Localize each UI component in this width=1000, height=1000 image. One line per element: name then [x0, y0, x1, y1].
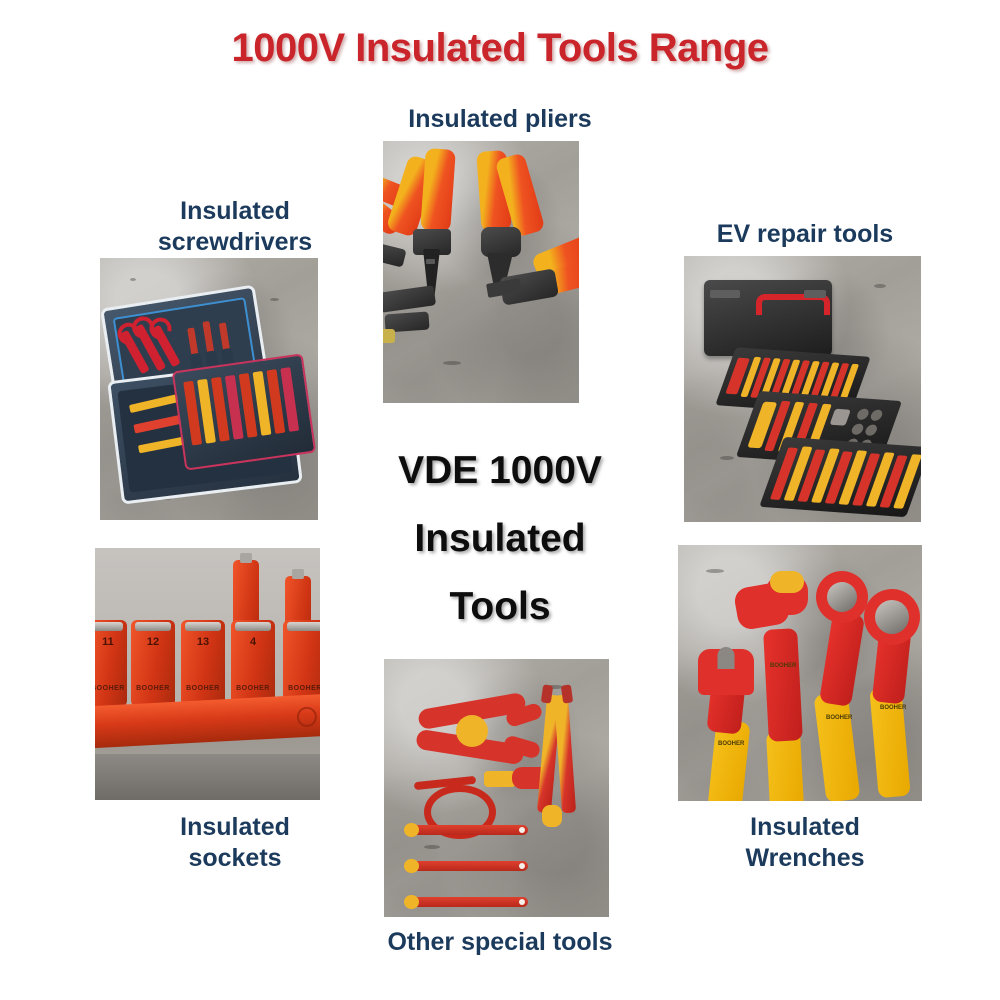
- socket-brand-label: BOOHER: [283, 685, 320, 692]
- photo-insulated-screwdrivers: [100, 258, 318, 520]
- ev-tool-case: [704, 280, 832, 356]
- caption-insulated-pliers: Insulated pliers: [360, 104, 640, 135]
- center-wordmark: VDE 1000V Insulated Tools: [350, 437, 650, 641]
- caption-ev-repair-tools: EV repair tools: [665, 219, 945, 250]
- socket-item: 11 BOOHER: [95, 620, 127, 706]
- socket-item: 13 BOOHER: [181, 620, 225, 706]
- infographic-canvas: 1000V Insulated Tools Range VDE 1000V In…: [0, 0, 1000, 1000]
- center-wordmark-line-1: VDE 1000V: [350, 437, 650, 505]
- ring-head-icon: [864, 589, 920, 645]
- caption-insulated-screwdrivers: Insulated screwdrivers: [95, 196, 375, 258]
- insulated-bar: [410, 897, 528, 907]
- photo-insulated-pliers: [383, 141, 579, 403]
- socket-brand-label: BOOHER: [231, 685, 275, 692]
- caption-insulated-wrenches: Insulated Wrenches: [665, 812, 945, 874]
- center-wordmark-line-2: Insulated: [350, 505, 650, 573]
- caption-line-1: Insulated: [95, 812, 375, 843]
- photo-insulated-wrenches: BOOHER BOOHER BOOHER BOOH: [678, 545, 922, 801]
- socket-size-label: 13: [181, 636, 225, 648]
- wrench-brand-label: BOOHER: [880, 705, 906, 711]
- photo-insulated-sockets: 11 BOOHER 12 BOOHER 13 BOOHER 4 BOOHER B…: [95, 548, 320, 800]
- insulated-bar: [410, 825, 528, 835]
- caption-line-2: Wrenches: [665, 843, 945, 874]
- caption-line-1: Insulated: [665, 812, 945, 843]
- center-wordmark-line-3: Tools: [350, 573, 650, 641]
- socket-item: BOOHER: [283, 620, 320, 706]
- socket-item: 12 BOOHER: [131, 620, 175, 706]
- socket-brand-label: BOOHER: [131, 685, 175, 692]
- tool-case-tray: [172, 353, 317, 470]
- clamp-pivot-icon: [456, 715, 488, 747]
- caption-line-1: EV repair tools: [665, 219, 945, 250]
- caption-line-1: Insulated pliers: [360, 104, 640, 135]
- page-title: 1000V Insulated Tools Range: [0, 26, 1000, 71]
- caption-line-2: screwdrivers: [95, 227, 375, 258]
- socket-item: 4 BOOHER: [231, 620, 275, 706]
- socket-brand-label: BOOHER: [181, 685, 225, 692]
- wrench-brand-label: BOOHER: [770, 663, 796, 669]
- wrench-brand-label: BOOHER: [718, 741, 744, 747]
- socket-size-label: 12: [131, 636, 175, 648]
- photo-ev-repair-tools: [684, 256, 921, 522]
- caption-other-special-tools: Other special tools: [360, 927, 640, 958]
- socket-size-label: 11: [95, 636, 127, 648]
- caption-insulated-sockets: Insulated sockets: [95, 812, 375, 874]
- caption-line-1: Other special tools: [360, 927, 640, 958]
- socket-brand-label: BOOHER: [95, 685, 127, 692]
- socket-size-label: 4: [231, 636, 275, 648]
- caption-line-2: sockets: [95, 843, 375, 874]
- caption-line-1: Insulated: [95, 196, 375, 227]
- photo-other-special-tools: [384, 659, 609, 917]
- ev-foam-tray: [759, 437, 921, 517]
- insulated-bar: [410, 861, 528, 871]
- wrench-brand-label: BOOHER: [826, 715, 852, 721]
